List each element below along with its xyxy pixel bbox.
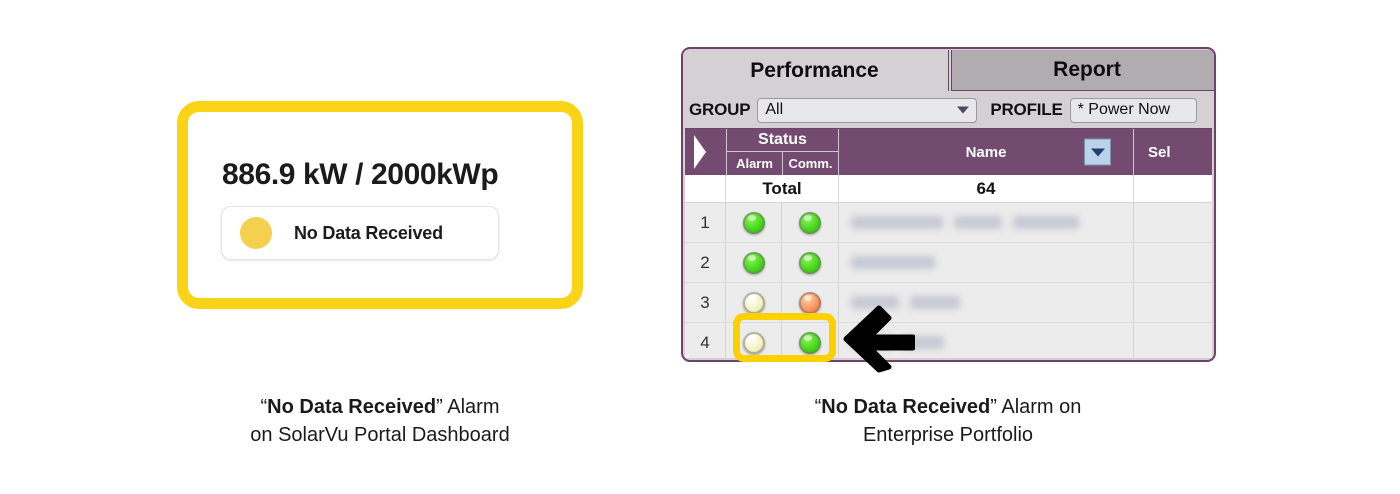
- alarm-status-cell[interactable]: [726, 323, 782, 358]
- comm-led-icon: [799, 332, 821, 354]
- caret-right-icon: [694, 135, 706, 169]
- comm-status-cell[interactable]: [782, 203, 839, 242]
- alarm-status-cell[interactable]: [726, 283, 782, 322]
- table-row[interactable]: 4: [685, 323, 1212, 358]
- row-number: 4: [685, 323, 726, 358]
- comm-led-icon: [799, 252, 821, 274]
- row-number: 3: [685, 283, 726, 322]
- redacted-site-name: [851, 256, 935, 269]
- table-body: 1234: [685, 203, 1212, 358]
- comm-led-icon: [799, 292, 821, 314]
- dashboard-card-inner: 886.9 kW / 2000kWp No Data Received: [188, 112, 572, 298]
- name-sort-button[interactable]: [1084, 139, 1111, 166]
- caption-right-line1: “No Data Received” Alarm on: [718, 394, 1178, 422]
- sel-cell[interactable]: [1134, 243, 1212, 282]
- caption-right-line2: Enterprise Portfolio: [718, 422, 1178, 450]
- row-number-header[interactable]: [685, 129, 726, 175]
- filter-bar: GROUP All PROFILE * Power Now: [683, 92, 1214, 128]
- profile-select-value: * Power Now: [1078, 101, 1170, 119]
- redacted-site-name: [1013, 216, 1079, 229]
- comm-status-cell[interactable]: [782, 323, 839, 358]
- redacted-site-name: [851, 216, 943, 229]
- total-row: Total 64: [685, 175, 1212, 203]
- table-row[interactable]: 3: [685, 283, 1212, 323]
- alarm-status-label: No Data Received: [294, 223, 443, 244]
- name-header-label: Name: [966, 144, 1007, 161]
- total-count: 64: [839, 175, 1134, 202]
- total-label: Total: [726, 175, 839, 202]
- caption-right: “No Data Received” Alarm on Enterprise P…: [718, 394, 1178, 449]
- alarm-header[interactable]: Alarm: [727, 152, 783, 175]
- sel-cell[interactable]: [1134, 323, 1212, 358]
- caption-left-quoted: No Data Received: [267, 396, 436, 418]
- sel-cell[interactable]: [1134, 203, 1212, 242]
- caption-right-suffix: ” Alarm on: [990, 396, 1081, 418]
- caption-right-quoted: No Data Received: [821, 396, 990, 418]
- alarm-status-dot: [240, 217, 272, 249]
- row-number: 1: [685, 203, 726, 242]
- comm-status-cell[interactable]: [782, 283, 839, 322]
- alarm-led-icon: [743, 332, 765, 354]
- caption-left-suffix: ” Alarm: [436, 396, 499, 418]
- total-spacer: [685, 175, 726, 202]
- profile-select[interactable]: * Power Now: [1070, 98, 1197, 123]
- profile-label: PROFILE: [990, 100, 1062, 120]
- portfolio-window: Performance Report GROUP All PROFILE * P…: [681, 47, 1216, 362]
- group-label: GROUP: [689, 100, 750, 120]
- alarm-status-cell[interactable]: [726, 203, 782, 242]
- alarm-status-cell[interactable]: [726, 243, 782, 282]
- screenshot-stage: 886.9 kW / 2000kWp No Data Received Perf…: [0, 0, 1400, 494]
- site-name-cell[interactable]: [839, 243, 1134, 282]
- name-header[interactable]: Name: [839, 129, 1134, 175]
- status-subheaders: Alarm Comm.: [727, 152, 838, 175]
- site-name-cell[interactable]: [839, 203, 1134, 242]
- caption-left-line1: “No Data Received” Alarm: [150, 394, 610, 422]
- alarm-led-icon: [743, 252, 765, 274]
- portfolio-table: Status Alarm Comm. Name Sel Total: [685, 128, 1212, 358]
- chevron-down-icon: [1091, 148, 1105, 156]
- comm-status-cell[interactable]: [782, 243, 839, 282]
- table-header-row: Status Alarm Comm. Name Sel: [685, 129, 1212, 175]
- power-readout: 886.9 kW / 2000kWp: [222, 158, 498, 192]
- alarm-status-pill[interactable]: No Data Received: [221, 206, 499, 260]
- tab-report[interactable]: Report: [951, 50, 1216, 91]
- tabstrip: Performance Report: [683, 49, 1214, 92]
- status-header: Status Alarm Comm.: [726, 129, 839, 175]
- redacted-site-name: [910, 296, 960, 309]
- total-sel-cell: [1134, 175, 1212, 202]
- sel-cell[interactable]: [1134, 283, 1212, 322]
- alarm-led-icon: [743, 292, 765, 314]
- table-row[interactable]: 1: [685, 203, 1212, 243]
- caption-left-line2: on SolarVu Portal Dashboard: [150, 422, 610, 450]
- tab-performance[interactable]: Performance: [681, 50, 949, 91]
- status-header-label: Status: [727, 129, 838, 152]
- table-row[interactable]: 2: [685, 243, 1212, 283]
- alarm-led-icon: [743, 212, 765, 234]
- group-select-value: All: [765, 101, 783, 119]
- comm-header[interactable]: Comm.: [783, 152, 838, 175]
- chevron-down-icon: [957, 107, 969, 114]
- pointer-arrow-icon: [843, 305, 915, 373]
- row-number: 2: [685, 243, 726, 282]
- redacted-site-name: [954, 216, 1002, 229]
- group-select[interactable]: All: [757, 98, 977, 123]
- dashboard-card: 886.9 kW / 2000kWp No Data Received: [177, 101, 583, 309]
- comm-led-icon: [799, 212, 821, 234]
- caption-left: “No Data Received” Alarm on SolarVu Port…: [150, 394, 610, 449]
- sel-header[interactable]: Sel: [1134, 129, 1212, 175]
